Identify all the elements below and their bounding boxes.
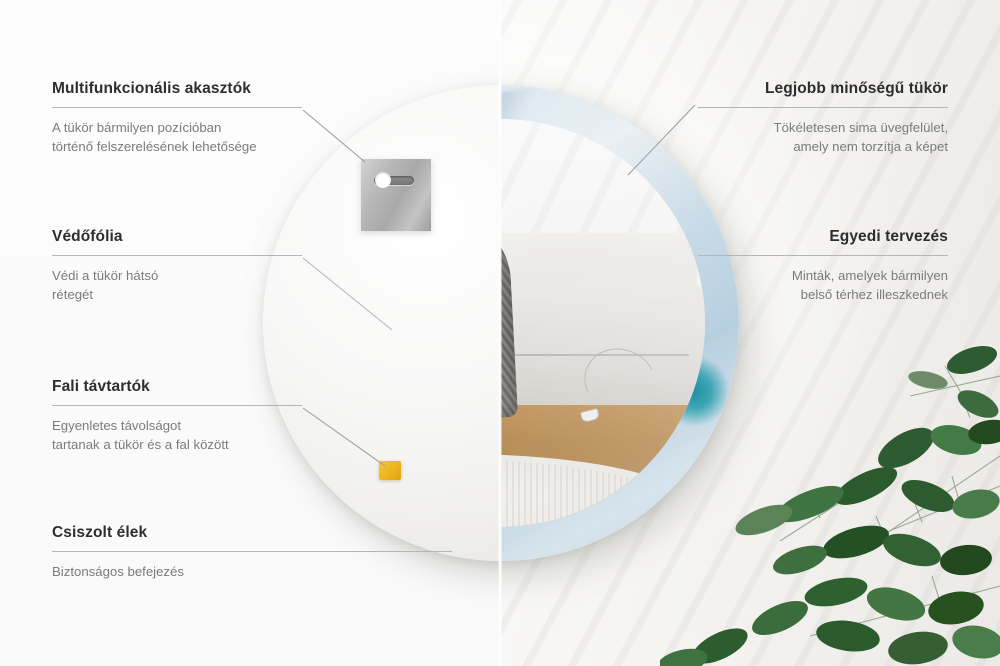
callout-title: Fali távtartók [52, 378, 302, 396]
foreground-leaf-branches [660, 336, 1000, 666]
callout-description: Egyenletes távolságot tartanak a tükör é… [52, 417, 302, 454]
callout-fali-tavtartok: Fali távtartók Egyenletes távolságot tar… [52, 378, 302, 454]
callout-vedofolia: Védőfólia Védi a tükör hátsó rétegét [52, 228, 302, 304]
callout-rule [52, 405, 302, 406]
callout-rule [698, 107, 948, 108]
callout-description: Minták, amelyek bármilyen belső térhez i… [698, 267, 948, 304]
callout-description: Védi a tükör hátsó rétegét [52, 267, 302, 304]
callout-rule [52, 255, 302, 256]
callout-description: Biztonságos befejezés [52, 563, 452, 582]
callout-egyedi-tervezes: Egyedi tervezés Minták, amelyek bármilye… [698, 228, 948, 304]
keyhole-slot-icon [374, 176, 414, 185]
callout-multifunkcionalis-akasztok: Multifunkcionális akasztók A tükör bármi… [52, 80, 302, 156]
product-infographic: Multifunkcionális akasztók A tükör bármi… [0, 0, 1000, 666]
callout-title: Multifunkcionális akasztók [52, 80, 302, 98]
callout-rule [698, 255, 948, 256]
wall-hanger-plate [361, 159, 431, 231]
half-split-divider [498, 0, 502, 666]
callout-title: Csiszolt élek [52, 524, 452, 542]
callout-rule [52, 107, 302, 108]
callout-description: Tökéletesen sima üvegfelület, amely nem … [698, 119, 948, 156]
callout-title: Legjobb minőségű tükör [698, 80, 948, 98]
callout-legjobb-minosegu-tukor: Legjobb minőségű tükör Tökéletesen sima … [698, 80, 948, 156]
callout-title: Védőfólia [52, 228, 302, 246]
callout-rule [52, 551, 452, 552]
callout-csiszolt-elek: Csiszolt élek Biztonságos befejezés [52, 524, 452, 582]
callout-title: Egyedi tervezés [698, 228, 948, 246]
callout-description: A tükör bármilyen pozícióban történő fel… [52, 119, 302, 156]
wall-spacer-block [379, 461, 401, 480]
